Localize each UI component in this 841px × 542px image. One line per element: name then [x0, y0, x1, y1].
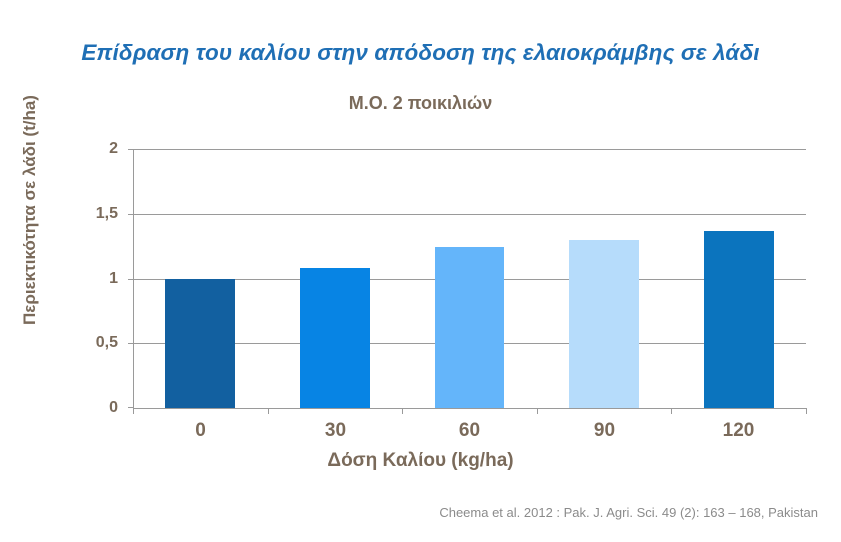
chart-slide: Επίδραση του καλίου στην απόδοση της ελα…	[0, 0, 841, 542]
x-axis-title: Δόση Καλίου (kg/ha)	[0, 450, 841, 472]
y-tick-mark	[128, 214, 133, 215]
x-tick-label: 120	[671, 420, 806, 442]
bar[interactable]	[165, 279, 235, 409]
bar[interactable]	[704, 231, 774, 408]
bar[interactable]	[300, 268, 370, 408]
bar[interactable]	[569, 240, 639, 408]
x-axis-line	[133, 408, 806, 409]
y-tick-label: 1,5	[8, 205, 118, 223]
gridline	[133, 214, 806, 215]
y-tick-label: 1	[8, 270, 118, 288]
x-tick-mark	[402, 408, 403, 414]
bar[interactable]	[435, 247, 505, 408]
x-tick-label: 30	[268, 420, 403, 442]
x-tick-mark	[537, 408, 538, 414]
gridline	[133, 149, 806, 150]
x-tick-label: 0	[133, 420, 268, 442]
y-tick-label: 0,5	[8, 334, 118, 352]
x-tick-label: 60	[402, 420, 537, 442]
x-tick-mark	[671, 408, 672, 414]
y-tick-mark	[128, 343, 133, 344]
x-tick-mark	[268, 408, 269, 414]
x-tick-mark	[806, 408, 807, 414]
x-tick-label: 90	[537, 420, 672, 442]
y-tick-mark	[128, 149, 133, 150]
x-tick-mark	[133, 408, 134, 414]
y-tick-label: 2	[8, 140, 118, 158]
y-tick-label: 0	[8, 399, 118, 417]
plot-area	[133, 149, 806, 408]
y-tick-mark	[128, 279, 133, 280]
source-citation: Cheema et al. 2012 : Pak. J. Agri. Sci. …	[0, 505, 818, 520]
